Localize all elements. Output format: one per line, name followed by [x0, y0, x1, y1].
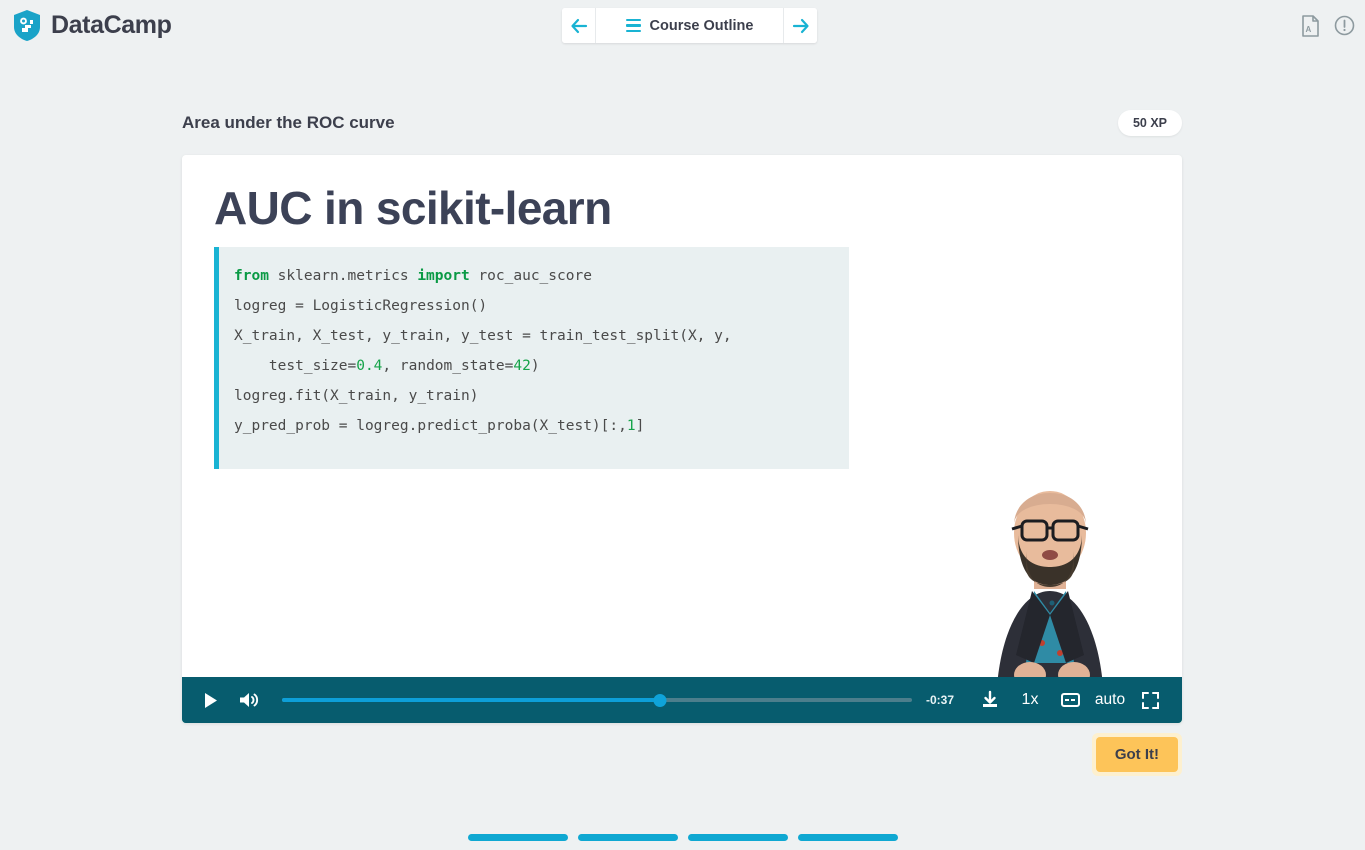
- pdf-document-icon[interactable]: A: [1301, 15, 1320, 37]
- hamburger-menu-icon: [626, 19, 641, 32]
- progress-segment[interactable]: [798, 834, 898, 841]
- video-controls-right: 1x auto: [970, 684, 1170, 716]
- xp-badge: 50 XP: [1118, 110, 1182, 136]
- top-bar: DataCamp Course Outline A: [0, 0, 1365, 51]
- page-title: Area under the ROC curve: [182, 113, 395, 133]
- code-line: y_pred_prob = logreg.predict_proba(X_tes…: [219, 411, 849, 441]
- volume-button[interactable]: [232, 684, 264, 716]
- arrow-left-icon: [570, 18, 588, 34]
- got-it-focus-ring: Got It!: [1092, 733, 1182, 776]
- playback-speed-button[interactable]: 1x: [1010, 684, 1050, 716]
- svg-text:A: A: [1306, 25, 1312, 34]
- code-line: logreg = LogisticRegression(): [219, 291, 849, 321]
- quality-label: auto: [1095, 691, 1125, 709]
- progress-segment[interactable]: [468, 834, 568, 841]
- captions-button[interactable]: [1050, 684, 1090, 716]
- closed-captions-icon: [1061, 693, 1080, 707]
- download-icon: [980, 690, 1000, 710]
- video-progress-slider[interactable]: [282, 691, 912, 709]
- course-outline-button[interactable]: Course Outline: [595, 8, 784, 43]
- progress-handle[interactable]: [653, 694, 666, 707]
- video-player-card: AUC in scikit-learn from sklearn.metrics…: [182, 155, 1182, 723]
- arrow-right-icon: [792, 18, 810, 34]
- exclamation-circle-icon[interactable]: [1334, 15, 1355, 36]
- brand-name: DataCamp: [51, 11, 171, 40]
- fullscreen-icon: [1142, 692, 1159, 709]
- course-outline-label: Course Outline: [650, 18, 754, 34]
- next-exercise-button[interactable]: [784, 8, 817, 43]
- code-line: X_train, X_test, y_train, y_test = train…: [219, 321, 849, 351]
- fullscreen-button[interactable]: [1130, 684, 1170, 716]
- volume-on-icon: [238, 691, 259, 709]
- play-icon: [203, 692, 218, 709]
- video-controls-bar: -0:37 1x auto: [182, 677, 1182, 723]
- exercise-header: Area under the ROC curve 50 XP: [182, 110, 1182, 136]
- download-button[interactable]: [970, 684, 1010, 716]
- top-bar-actions: A: [1301, 0, 1355, 51]
- instructor-video-overlay: [934, 463, 1166, 711]
- slide-title: AUC in scikit-learn: [214, 181, 612, 235]
- time-remaining: -0:37: [926, 693, 954, 707]
- code-line: from sklearn.metrics import roc_auc_scor…: [219, 261, 849, 291]
- previous-exercise-button[interactable]: [562, 8, 595, 43]
- datacamp-shield-logo-icon: [12, 9, 42, 42]
- got-it-button[interactable]: Got It!: [1096, 737, 1178, 772]
- play-button[interactable]: [194, 684, 226, 716]
- progress-segment[interactable]: [688, 834, 788, 841]
- playback-speed-label: 1x: [1022, 691, 1039, 709]
- progress-fill: [282, 698, 660, 702]
- progress-segment[interactable]: [578, 834, 678, 841]
- lesson-progress-bar: [0, 834, 1365, 841]
- course-outline-nav: Course Outline: [562, 8, 817, 43]
- quality-button[interactable]: auto: [1090, 684, 1130, 716]
- code-line: test_size=0.4, random_state=42): [219, 351, 849, 381]
- code-block: from sklearn.metrics import roc_auc_scor…: [214, 247, 849, 469]
- code-line: logreg.fit(X_train, y_train): [219, 381, 849, 411]
- datacamp-logo[interactable]: DataCamp: [0, 9, 171, 42]
